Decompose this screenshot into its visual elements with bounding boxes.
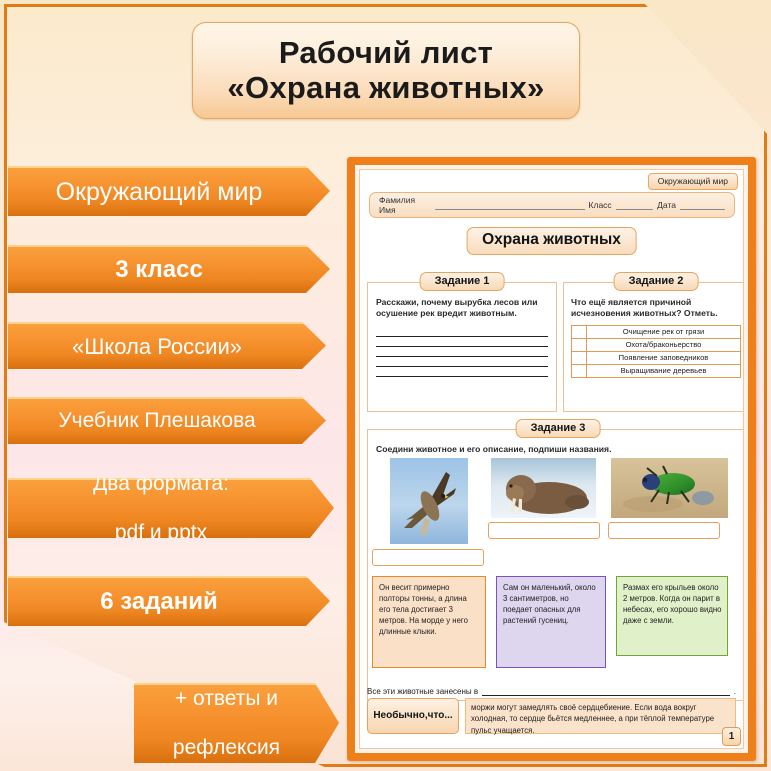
class-field-label: Класс [589,200,612,210]
page-title: Рабочий лист «Охрана животных» [192,22,580,119]
task-2-box: Задание 2 Что ещё является причиной исче… [563,282,744,412]
task-1-chip: Задание 1 [420,272,505,291]
fun-fact-block: Необычно, что... моржи могут замедлять с… [367,698,736,734]
redbook-fill-in-line: Все эти животные занесены в . [367,687,736,696]
option-checkbox[interactable] [572,351,587,364]
fun-fact-text: моржи могут замедлять своё сердцебиение.… [465,698,736,734]
banner-subject[interactable]: Окружающий мир [8,166,330,216]
banner-textbook[interactable]: Учебник Плешакова [8,397,326,444]
student-name-row: Фамилия Имя Класс Дата [369,192,735,218]
banner-task-count-label: 6 заданий [100,588,218,616]
table-row[interactable]: Появление заповедников [572,351,741,364]
description-eagle[interactable]: Размах его крыльев около 2 метров. Когда… [616,576,728,656]
task-2-options-table: Очищение рек от грязи Охота/браконьерств… [571,325,741,378]
fun-fact-label-line2: что... [428,710,453,722]
redbook-suffix: . [734,687,736,696]
banner-answers[interactable]: + ответы и рефлексия [134,683,339,763]
answer-line[interactable] [376,367,548,377]
class-field-rule[interactable] [616,201,654,210]
beetle-name-input[interactable] [608,522,720,539]
task-2-chip: Задание 2 [614,272,699,291]
option-checkbox[interactable] [572,325,587,338]
answer-line[interactable] [376,347,548,357]
walrus-photo-graphic [491,458,596,518]
page-title-line2: «Охрана животных» [227,71,544,106]
table-row[interactable]: Очищение рек от грязи [572,325,741,338]
eagle-photo-graphic [390,458,468,544]
option-checkbox[interactable] [572,364,587,377]
eagle-name-input[interactable] [372,549,484,566]
banner-formats[interactable]: Два формата: pdf и pptx [8,478,334,538]
redbook-prefix: Все эти животные занесены в [367,687,478,696]
fun-fact-label: Необычно, что... [367,698,459,734]
banner-program-label: «Школа России» [72,334,242,360]
banner-program[interactable]: «Школа России» [8,322,326,369]
task-2-question: Что ещё является причиной исчезновения ж… [571,297,741,320]
table-row[interactable]: Охота/браконьерство [572,338,741,351]
answer-line[interactable] [376,327,548,337]
banner-textbook-label: Учебник Плешакова [58,409,255,433]
date-field-label: Дата [657,200,676,210]
eagle-photo [390,458,468,544]
worksheet-page: Окружающий мир Фамилия Имя Класс Дата Ох… [359,169,744,749]
slide-canvas: Рабочий лист «Охрана животных» Окружающи… [0,0,771,771]
banner-answers-line2: рефлексия [173,736,280,760]
worksheet-preview-frame[interactable]: Окружающий мир Фамилия Имя Класс Дата Ох… [347,157,756,761]
answer-line[interactable] [376,357,548,367]
answer-line[interactable] [376,337,548,347]
name-field-label: Фамилия Имя [379,195,431,215]
banner-subject-label: Окружающий мир [56,178,263,207]
task-1-answer-lines[interactable] [376,327,548,377]
banner-task-count[interactable]: 6 заданий [8,576,330,626]
beetle-photo [611,458,728,518]
banner-answers-label: + ответы и рефлексия [173,687,280,760]
redbook-input-rule[interactable] [482,687,730,696]
fun-fact-label-line1: Необычно, [373,710,427,722]
task-3-box: Задание 3 Соедини животное и его описани… [367,429,744,701]
task-1-question: Расскажи, почему вырубка лесов или осуше… [376,297,548,320]
beetle-photo-graphic [611,458,728,518]
worksheet-heading: Охрана животных [466,227,637,255]
banner-formats-label: Два формата: pdf и pptx [93,472,229,545]
banner-grade[interactable]: 3 класс [8,245,330,293]
task-1-box: Задание 1 Расскажи, почему вырубка лесов… [367,282,557,412]
description-beetle[interactable]: Сам он маленький, около 3 сантиметров, н… [496,576,606,668]
option-label: Очищение рек от грязи [587,325,741,338]
option-label: Выращивание деревьев [587,364,741,377]
banner-answers-line1: + ответы и [173,687,280,711]
option-label: Охота/браконьерство [587,338,741,351]
table-row[interactable]: Выращивание деревьев [572,364,741,377]
description-walrus[interactable]: Он весит примерно полторы тонны, а длина… [372,576,486,668]
walrus-photo [491,458,596,518]
page-number-badge: 1 [722,727,741,746]
date-field-rule[interactable] [680,201,725,210]
worksheet-subject-tab: Окружающий мир [648,173,738,190]
option-checkbox[interactable] [572,338,587,351]
page-title-line1: Рабочий лист [279,36,493,71]
banner-grade-label: 3 класс [115,256,203,284]
option-label: Появление заповедников [587,351,741,364]
name-field-rule[interactable] [435,201,585,210]
walrus-name-input[interactable] [488,522,600,539]
task-3-instruction: Соедини животное и его описание, подпиши… [376,444,740,455]
task-3-chip: Задание 3 [516,419,601,438]
